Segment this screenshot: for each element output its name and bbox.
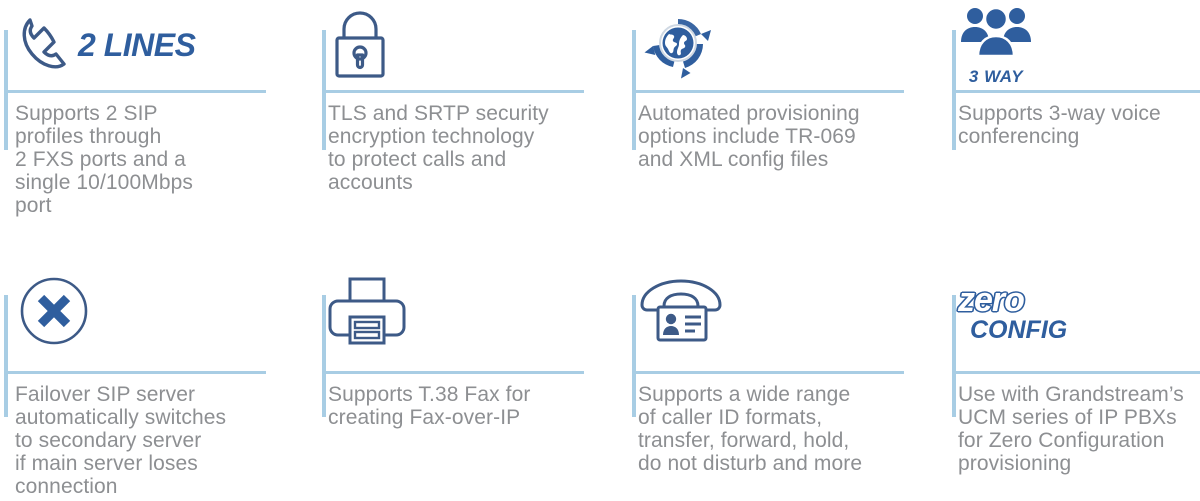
phone-caller-id-icon: [638, 277, 724, 350]
feature-description: Supports T.38 Fax for creating Fax-over-…: [328, 383, 588, 429]
feature-card-security: TLS and SRTP security encryption technol…: [310, 0, 620, 260]
horizontal-rule: [952, 90, 1200, 93]
feature-description: Supports 2 SIP profiles through 2 FXS po…: [15, 102, 265, 217]
icon-area: 2 LINES: [18, 2, 195, 88]
icon-area: zero CONFIG: [958, 270, 1067, 356]
vertical-rule: [322, 295, 326, 417]
horizontal-rule: [632, 90, 904, 93]
zero-config-wordmark: zero CONFIG: [958, 283, 1067, 343]
vertical-rule: [632, 295, 636, 417]
horizontal-rule: [4, 90, 266, 93]
horizontal-rule: [322, 371, 584, 374]
phone-handset-icon: [18, 12, 76, 79]
vertical-rule: [952, 295, 956, 417]
icon-label-two-lines: 2 LINES: [78, 27, 195, 64]
feature-description: Failover SIP server automatically switch…: [15, 383, 265, 498]
feature-description: Supports 3-way voice conferencing: [958, 102, 1200, 148]
feature-description: TLS and SRTP security encryption technol…: [328, 102, 588, 194]
feature-card-three-way: 3 WAY Supports 3-way voice conferencing: [940, 0, 1200, 260]
icon-area: 3 WAY: [958, 2, 1034, 88]
feature-grid-board: 2 LINES Supports 2 SIP profiles through …: [0, 0, 1200, 501]
feature-card-two-lines: 2 LINES Supports 2 SIP profiles through …: [0, 0, 310, 260]
feature-description: Supports a wide range of caller ID forma…: [638, 383, 913, 475]
feature-card-provisioning: Automated provisioning options include T…: [620, 0, 940, 260]
feature-card-zero-config: zero CONFIG Use with Grandstream’s UCM s…: [940, 260, 1200, 501]
feature-description: Automated provisioning options include T…: [638, 102, 913, 171]
zero-config-word-zero: zero: [958, 283, 1024, 317]
icon-area: [328, 2, 392, 88]
feature-card-fax: Supports T.38 Fax for creating Fax-over-…: [310, 260, 620, 501]
horizontal-rule: [632, 371, 904, 374]
globe-refresh-icon: [638, 4, 718, 87]
circle-x-icon: [18, 275, 90, 352]
icon-area: [328, 270, 406, 356]
feature-description: Use with Grandstream’s UCM series of IP …: [958, 383, 1200, 475]
padlock-icon: [328, 5, 392, 86]
horizontal-rule: [322, 90, 584, 93]
three-people-icon: [958, 4, 1034, 67]
feature-card-caller-id: Supports a wide range of caller ID forma…: [620, 260, 940, 501]
printer-fax-icon: [328, 275, 406, 352]
icon-area: [18, 270, 90, 356]
zero-config-word-config: CONFIG: [970, 318, 1067, 343]
icon-area: [638, 270, 724, 356]
vertical-rule: [4, 295, 8, 417]
horizontal-rule: [4, 371, 266, 374]
feature-card-failover: Failover SIP server automatically switch…: [0, 260, 310, 501]
icon-area: [638, 2, 718, 88]
horizontal-rule: [952, 371, 1200, 374]
feature-grid: 2 LINES Supports 2 SIP profiles through …: [0, 0, 1200, 501]
icon-label-three-way: 3 WAY: [969, 67, 1023, 87]
